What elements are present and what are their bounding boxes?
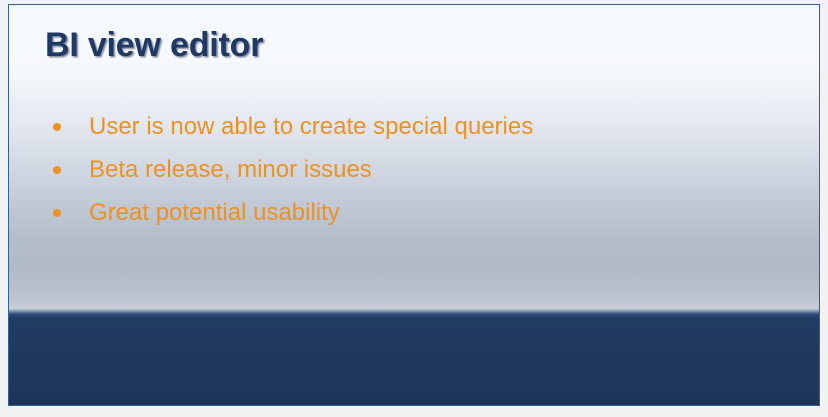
slide-screenshot: BI view editor User is now able to creat… (0, 0, 828, 417)
presentation-slide[interactable]: BI view editor User is now able to creat… (8, 4, 820, 406)
list-item[interactable]: Beta release, minor issues (45, 152, 779, 188)
page-title: BI view editor (45, 23, 779, 67)
list-item-label: User is now able to create special queri… (89, 109, 533, 145)
bullet-dot-icon (53, 209, 61, 217)
bullet-list: User is now able to create special queri… (45, 109, 779, 231)
slide-footer-band (9, 309, 819, 405)
list-item-label: Great potential usability (89, 195, 340, 231)
slide-body-area: User is now able to create special queri… (45, 109, 779, 238)
list-item-label: Beta release, minor issues (89, 152, 372, 188)
list-item[interactable]: Great potential usability (45, 195, 779, 231)
slide-title-area: BI view editor (45, 23, 779, 79)
bullet-dot-icon (53, 166, 61, 174)
bullet-dot-icon (53, 123, 61, 131)
list-item[interactable]: User is now able to create special queri… (45, 109, 779, 145)
